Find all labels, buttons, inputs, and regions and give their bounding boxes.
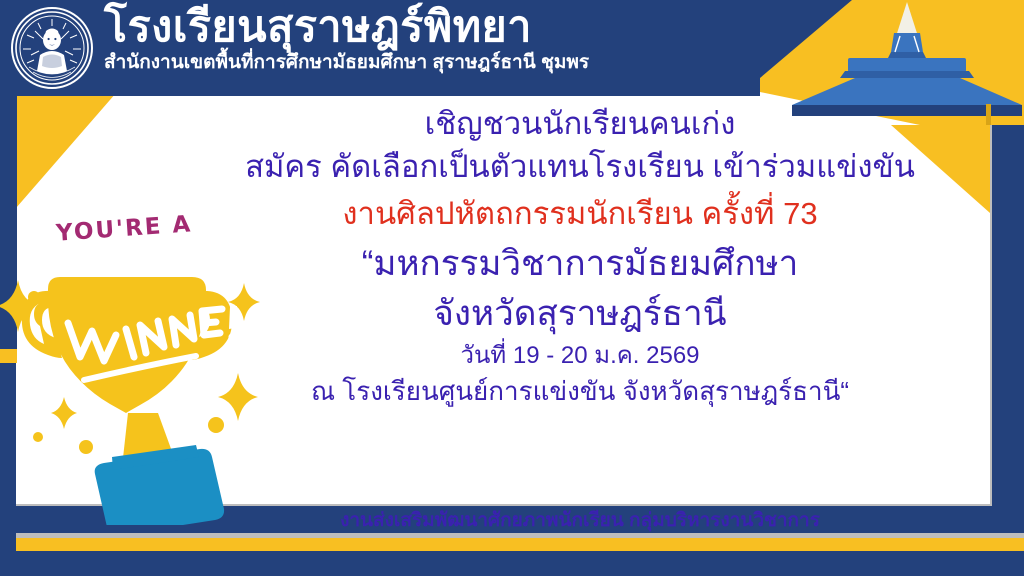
poster-canvas: โรงเรียนสุราษฎร์พิทยา สำนักงานเขตพื้นที่…	[0, 0, 1024, 576]
header-text-group: โรงเรียนสุราษฎร์พิทยา สำนักงานเขตพื้นที่…	[104, 3, 764, 75]
header-band: โรงเรียนสุราษฎร์พิทยา สำนักงานเขตพื้นที่…	[0, 0, 1024, 96]
school-name-title: โรงเรียนสุราษฎร์พิทยา	[104, 3, 764, 51]
bottom-navy-bar	[16, 551, 1024, 576]
left-yellow-accent	[0, 349, 17, 363]
invite-line: เชิญชวนนักเรียนคนเก่ง	[180, 103, 980, 145]
main-copy: เชิญชวนนักเรียนคนเก่ง สมัคร คัดเลือกเป็น…	[180, 103, 980, 409]
event-date-line: วันที่ 19 - 20 ม.ค. 2569	[180, 339, 980, 373]
school-office-subtitle: สำนักงานเขตพื้นที่การศึกษามัธยมศึกษา สุร…	[104, 51, 764, 75]
festival-line-1: “มหกรรมวิชาการมัธยมศึกษา	[180, 239, 980, 289]
event-name-line: งานศิลปหัตถกรรมนักเรียน ครั้งที่ 73	[180, 189, 980, 239]
corner-wedge-top-left	[16, 93, 116, 208]
festival-line-2: จังหวัดสุราษฎร์ธานี	[180, 289, 980, 339]
event-venue-line: ณ โรงเรียนศูนย์การแข่งขัน จังหวัดสุราษฎร…	[180, 373, 980, 409]
school-seal-icon	[11, 7, 93, 89]
apply-line: สมัคร คัดเลือกเป็นตัวแทนโรงเรียน เข้าร่ว…	[180, 145, 980, 189]
left-navy-band	[0, 93, 17, 361]
bottom-yellow-bar	[16, 538, 1024, 551]
footer-credit-line: งานส่งเสริมพัฒนาศักยภาพนักเรียน กลุ่มบริ…	[180, 505, 980, 535]
